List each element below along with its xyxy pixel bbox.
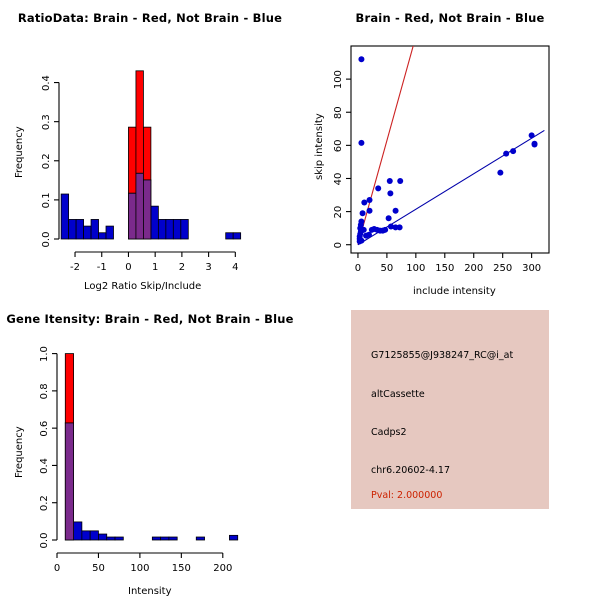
ratio-histogram-bar-notbrain <box>151 206 158 239</box>
ratio-histogram-x-tick-label: 4 <box>232 262 238 273</box>
ratio-histogram-bar-overlap <box>136 173 143 239</box>
ratio-histogram-bar-notbrain <box>181 219 188 239</box>
ratio-histogram-x-tick-label: 2 <box>179 262 185 273</box>
scatter-xlabel: include intensity <box>413 286 496 297</box>
scatter-fit-line <box>358 43 414 245</box>
gene-histogram-svg: 0.00.20.40.60.81.0050100150200 <box>0 300 300 600</box>
gene-histogram-bar-notbrain <box>98 534 106 540</box>
ratio-histogram-title: RatioData: Brain - Red, Not Brain - Blue <box>0 11 300 25</box>
ratio-histogram-bar-notbrain <box>91 219 98 239</box>
ratio-histogram-bar-brain <box>143 127 150 180</box>
event-type-text: altCassette <box>371 389 425 400</box>
ratio-histogram-bar-notbrain <box>166 219 173 239</box>
locus-text: chr6.20602-4.17 <box>371 465 450 476</box>
gene-symbol-text: Cadps2 <box>371 427 407 438</box>
ratio-histogram-x-tick-label: -2 <box>70 262 80 273</box>
gene-histogram-bar-notbrain <box>152 537 160 540</box>
gene-histogram-x-tick-label: 150 <box>172 563 191 574</box>
scatter-y-tick-label: 100 <box>333 70 344 89</box>
scatter-point <box>367 208 373 214</box>
gene-histogram-bar-notbrain <box>74 522 82 540</box>
scatter-svg: 020406080100050100150200250300 <box>300 0 600 300</box>
scatter-title: Brain - Red, Not Brain - Blue <box>300 11 600 25</box>
panel-gene-intensity-histogram: Gene Itensity: Brain - Red, Not Brain - … <box>0 300 300 600</box>
scatter-point <box>529 132 535 138</box>
gene-histogram-y-tick-label: 0.2 <box>39 495 50 511</box>
scatter-content <box>357 43 545 245</box>
scatter-point <box>361 199 367 205</box>
ratio-histogram-bar-notbrain <box>158 219 165 239</box>
gene-histogram-x-tick-label: 200 <box>213 563 232 574</box>
scatter-y-tick-label: 40 <box>333 173 344 186</box>
scatter-point <box>367 197 373 203</box>
ratio-histogram-bar-brain <box>128 127 135 193</box>
gene-histogram-y-tick-label: 0.6 <box>39 421 50 437</box>
gene-histogram-bar-notbrain <box>115 537 123 540</box>
gene-histogram-title: Gene Itensity: Brain - Red, Not Brain - … <box>0 312 300 326</box>
scatter-point <box>358 56 364 62</box>
ratio-histogram-y-tick-label: 0.4 <box>41 75 52 91</box>
scatter-point <box>386 215 392 221</box>
scatter-x-tick-label: 150 <box>435 263 454 274</box>
scatter-point <box>382 227 388 233</box>
scatter-point <box>387 190 393 196</box>
scatter-point <box>532 142 538 148</box>
gene-histogram-y-tick-label: 0.8 <box>39 383 50 399</box>
ratio-histogram-svg: 0.00.10.20.30.4-2-101234 <box>0 0 300 300</box>
ratio-histogram-bar-brain <box>136 71 143 173</box>
gene-histogram-x-tick-label: 100 <box>130 563 149 574</box>
gene-histogram-bar-notbrain <box>90 531 98 540</box>
ratio-histogram-ylabel: Frequency <box>14 126 25 178</box>
ratio-histogram-y-tick-label: 0.0 <box>41 232 52 248</box>
gene-histogram-x-tick-label: 0 <box>54 563 60 574</box>
figure-canvas: RatioData: Brain - Red, Not Brain - Blue… <box>0 0 600 600</box>
gene-histogram-xlabel: Intensity <box>128 586 172 597</box>
ratio-histogram-bar-notbrain <box>84 226 91 239</box>
gene-histogram-bar-overlap <box>65 423 73 540</box>
probe-info-box: G7125855@J938247_RC@i_at altCassette Cad… <box>351 310 549 509</box>
gene-histogram-bar-notbrain <box>107 537 115 540</box>
gene-histogram-y-tick-label: 1.0 <box>39 346 50 362</box>
ratio-histogram-y-tick-label: 0.3 <box>41 114 52 130</box>
ratio-histogram-bar-notbrain <box>99 233 106 239</box>
ratio-histogram-bar-notbrain <box>233 233 240 239</box>
scatter-point <box>387 178 393 184</box>
ratio-histogram-bar-notbrain <box>69 219 76 239</box>
scatter-point <box>510 148 516 154</box>
scatter-x-tick-label: 0 <box>355 263 361 274</box>
scatter-plot-box <box>351 46 549 253</box>
gene-histogram-bar-notbrain <box>82 531 90 540</box>
ratio-histogram-bar-overlap <box>143 180 150 239</box>
ratio-histogram-x-tick-label: -1 <box>97 262 107 273</box>
ratio-histogram-bar-notbrain <box>61 194 68 239</box>
ratio-histogram-bar-notbrain <box>106 226 113 239</box>
panel-intensity-scatter: Brain - Red, Not Brain - Blue 0204060801… <box>300 0 600 300</box>
gene-histogram-y-tick-label: 0.0 <box>39 533 50 549</box>
ratio-histogram-bar-overlap <box>128 193 135 239</box>
scatter-point <box>397 178 403 184</box>
scatter-x-tick-label: 100 <box>406 263 425 274</box>
ratio-histogram-x-tick-label: 0 <box>125 262 131 273</box>
panel-probe-info: G7125855@J938247_RC@i_at altCassette Cad… <box>300 300 600 600</box>
pval-text: Pval: 2.000000 <box>371 490 442 501</box>
gene-histogram-ylabel: Frequency <box>14 426 25 478</box>
ratio-histogram-y-tick-label: 0.2 <box>41 153 52 169</box>
scatter-point <box>503 151 509 157</box>
ratio-histogram-x-tick-label: 1 <box>152 262 158 273</box>
ratio-histogram-xlabel: Log2 Ratio Skip/Include <box>84 281 201 292</box>
scatter-x-tick-label: 50 <box>381 263 394 274</box>
ratio-histogram-bar-notbrain <box>173 219 180 239</box>
scatter-x-tick-label: 200 <box>464 263 483 274</box>
scatter-point <box>361 227 367 233</box>
scatter-y-tick-label: 0 <box>333 242 344 248</box>
scatter-point <box>375 185 381 191</box>
scatter-point <box>393 208 399 214</box>
scatter-point <box>397 224 403 230</box>
gene-histogram-bar-notbrain <box>169 537 177 540</box>
gene-histogram-bar-notbrain <box>161 537 169 540</box>
ratio-histogram-y-tick-label: 0.1 <box>41 192 52 208</box>
gene-histogram-bar-brain <box>65 354 73 423</box>
gene-histogram-bar-notbrain <box>229 535 237 540</box>
ratio-histogram-bar-notbrain <box>76 219 83 239</box>
scatter-x-tick-label: 250 <box>493 263 512 274</box>
ratio-histogram-bar-notbrain <box>226 233 233 239</box>
scatter-point <box>358 140 364 146</box>
scatter-point <box>360 210 366 216</box>
scatter-y-tick-label: 60 <box>333 139 344 152</box>
scatter-x-tick-label: 300 <box>522 263 541 274</box>
gene-histogram-y-tick-label: 0.4 <box>39 458 50 474</box>
gene-histogram-x-tick-label: 50 <box>92 563 105 574</box>
ratio-histogram-x-tick-label: 3 <box>205 262 211 273</box>
gene-histogram-bar-notbrain <box>196 537 204 540</box>
panel-ratio-histogram: RatioData: Brain - Red, Not Brain - Blue… <box>0 0 300 300</box>
scatter-y-tick-label: 80 <box>333 106 344 119</box>
scatter-y-tick-label: 20 <box>333 206 344 219</box>
scatter-point <box>358 238 364 244</box>
scatter-point <box>497 170 503 176</box>
scatter-ylabel: skip intensity <box>314 113 325 180</box>
probe-id-text: G7125855@J938247_RC@i_at <box>371 350 513 361</box>
